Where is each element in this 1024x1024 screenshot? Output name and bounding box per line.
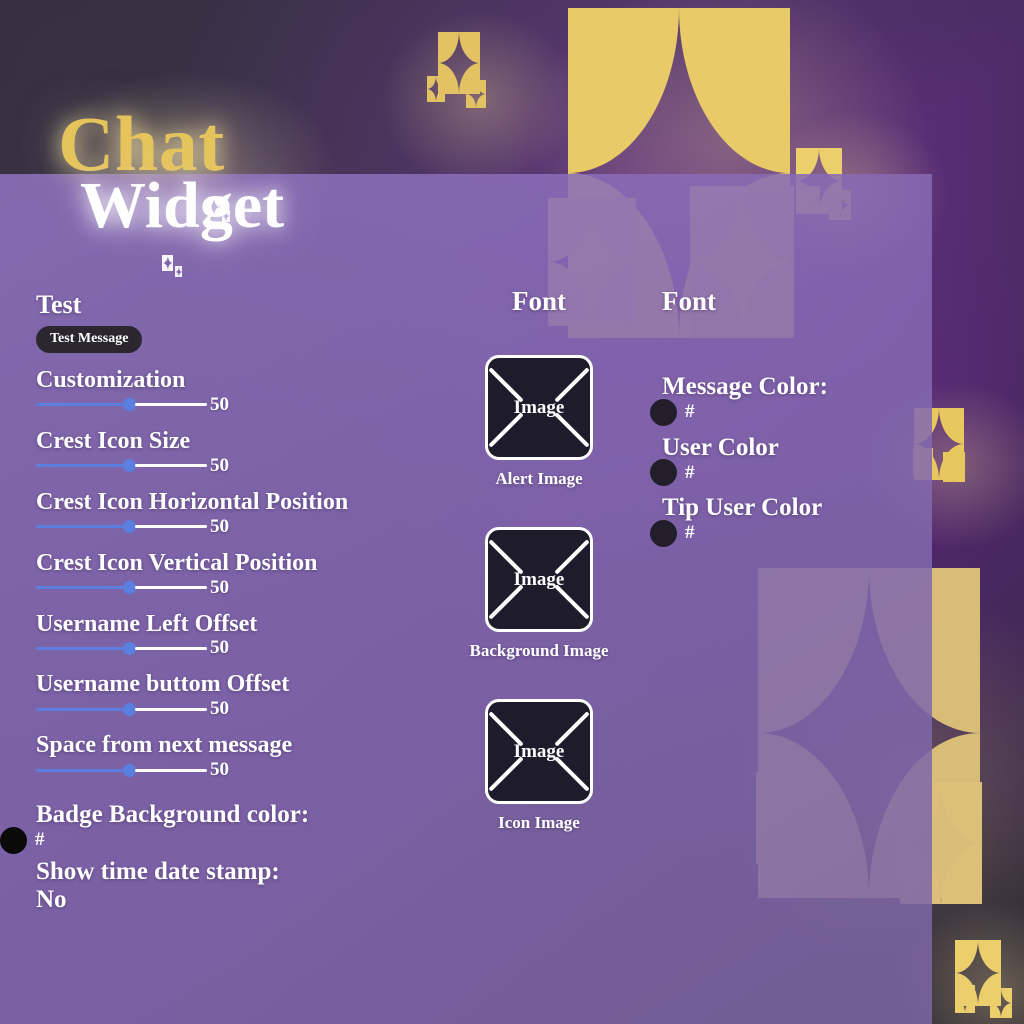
slider-label: Customization bbox=[36, 367, 456, 394]
color-swatch-icon[interactable] bbox=[650, 399, 677, 426]
color-swatch-icon[interactable] bbox=[650, 459, 677, 486]
slider-customization[interactable]: 50 bbox=[36, 396, 456, 414]
color-swatch-icon[interactable] bbox=[650, 520, 677, 547]
slider-value: 50 bbox=[210, 516, 229, 538]
slider-label: Space from next message bbox=[36, 732, 456, 759]
slider-row-crest-icon-size: Crest Icon Size 50 bbox=[36, 428, 456, 475]
slider-fill bbox=[36, 769, 124, 772]
message-color-row: Message Color: # bbox=[662, 373, 922, 426]
right-colors-column: Font Message Color: # User Color # Tip U… bbox=[662, 286, 922, 547]
page-title: Chat Widget bbox=[58, 108, 284, 236]
background-image-slot: Image Background Image bbox=[444, 527, 634, 661]
middle-images-column: Font Image Alert Image Image bbox=[444, 286, 634, 871]
slider-remainder bbox=[135, 708, 207, 711]
user-color-picker[interactable]: # bbox=[650, 459, 922, 486]
image-placeholder-text: Image bbox=[488, 397, 590, 419]
slider-value: 50 bbox=[210, 455, 229, 477]
slider-fill bbox=[36, 586, 124, 589]
slider-value: 50 bbox=[210, 577, 229, 599]
test-label: Test bbox=[36, 290, 456, 320]
slider-remainder bbox=[135, 403, 207, 406]
slider-value: 50 bbox=[210, 698, 229, 720]
slider-username-bottom-offset[interactable]: 50 bbox=[36, 700, 456, 718]
show-time-date-stamp-label: Show time date stamp: bbox=[36, 858, 456, 886]
slider-remainder bbox=[135, 525, 207, 528]
slider-space-from-next-message[interactable]: 50 bbox=[36, 761, 456, 779]
color-hash-field[interactable]: # bbox=[35, 829, 45, 851]
slider-crest-icon-horizontal-position[interactable]: 50 bbox=[36, 518, 456, 536]
show-time-date-stamp-value[interactable]: No bbox=[36, 886, 456, 914]
slider-value: 50 bbox=[210, 759, 229, 781]
slider-row-customization: Customization 50 bbox=[36, 367, 456, 414]
slider-fill bbox=[36, 525, 124, 528]
image-placeholder-text: Image bbox=[488, 569, 590, 591]
icon-image-placeholder[interactable]: Image bbox=[485, 699, 593, 804]
slider-remainder bbox=[135, 769, 207, 772]
color-hash-field[interactable]: # bbox=[685, 522, 695, 544]
user-color-label: User Color bbox=[662, 434, 922, 462]
user-color-row: User Color # bbox=[662, 434, 922, 487]
slider-fill bbox=[36, 403, 124, 406]
slider-remainder bbox=[135, 586, 207, 589]
show-time-date-stamp-row: Show time date stamp: No bbox=[36, 858, 456, 914]
slider-fill bbox=[36, 464, 124, 467]
slider-crest-icon-size[interactable]: 50 bbox=[36, 457, 456, 475]
slider-remainder bbox=[135, 464, 207, 467]
tip-user-color-label: Tip User Color bbox=[662, 494, 922, 522]
badge-background-color-row: Badge Background color: # bbox=[36, 801, 456, 854]
slider-fill bbox=[36, 647, 124, 650]
color-hash-field[interactable]: # bbox=[685, 401, 695, 423]
slider-label: Crest Icon Horizontal Position bbox=[36, 489, 456, 516]
background-image-caption: Background Image bbox=[444, 641, 634, 661]
tip-user-color-picker[interactable]: # bbox=[650, 520, 922, 547]
slider-remainder bbox=[135, 647, 207, 650]
test-section: Test Test Message bbox=[36, 290, 456, 353]
badge-background-color-label: Badge Background color: bbox=[36, 801, 456, 829]
slider-value: 50 bbox=[210, 637, 229, 659]
image-placeholder-text: Image bbox=[488, 741, 590, 763]
right-column-heading: Font bbox=[662, 286, 922, 317]
middle-column-heading: Font bbox=[444, 286, 634, 317]
slider-row-username-left-offset: Username Left Offset 50 bbox=[36, 611, 456, 658]
slider-label: Crest Icon Size bbox=[36, 428, 456, 455]
color-hash-field[interactable]: # bbox=[685, 462, 695, 484]
chat-widget-settings-screen: Test Test Message Customization 50 Crest… bbox=[0, 0, 1024, 1024]
slider-label: Username buttom Offset bbox=[36, 671, 456, 698]
icon-image-slot: Image Icon Image bbox=[444, 699, 634, 833]
alert-image-caption: Alert Image bbox=[444, 469, 634, 489]
alert-image-placeholder[interactable]: Image bbox=[485, 355, 593, 460]
slider-row-username-bottom-offset: Username buttom Offset 50 bbox=[36, 671, 456, 718]
slider-username-left-offset[interactable]: 50 bbox=[36, 639, 456, 657]
message-color-picker[interactable]: # bbox=[650, 399, 922, 426]
settings-panel: Test Test Message Customization 50 Crest… bbox=[0, 174, 932, 1024]
message-color-label: Message Color: bbox=[662, 373, 922, 401]
tip-user-color-row: Tip User Color # bbox=[662, 494, 922, 547]
slider-crest-icon-vertical-position[interactable]: 50 bbox=[36, 579, 456, 597]
slider-label: Crest Icon Vertical Position bbox=[36, 550, 456, 577]
background-image-placeholder[interactable]: Image bbox=[485, 527, 593, 632]
slider-fill bbox=[36, 708, 124, 711]
slider-row-crest-icon-horizontal-position: Crest Icon Horizontal Position 50 bbox=[36, 489, 456, 536]
slider-label: Username Left Offset bbox=[36, 611, 456, 638]
color-swatch-icon[interactable] bbox=[0, 827, 27, 854]
badge-background-color-picker[interactable]: # bbox=[0, 827, 456, 854]
slider-row-crest-icon-vertical-position: Crest Icon Vertical Position 50 bbox=[36, 550, 456, 597]
page-title-line2: Widget bbox=[80, 176, 284, 237]
left-settings-column: Test Test Message Customization 50 Crest… bbox=[36, 290, 456, 914]
slider-thumb[interactable] bbox=[123, 398, 136, 411]
icon-image-caption: Icon Image bbox=[444, 813, 634, 833]
slider-row-space-from-next-message: Space from next message 50 bbox=[36, 732, 456, 779]
alert-image-slot: Image Alert Image bbox=[444, 355, 634, 489]
slider-value: 50 bbox=[210, 394, 229, 416]
test-message-badge[interactable]: Test Message bbox=[36, 326, 142, 353]
